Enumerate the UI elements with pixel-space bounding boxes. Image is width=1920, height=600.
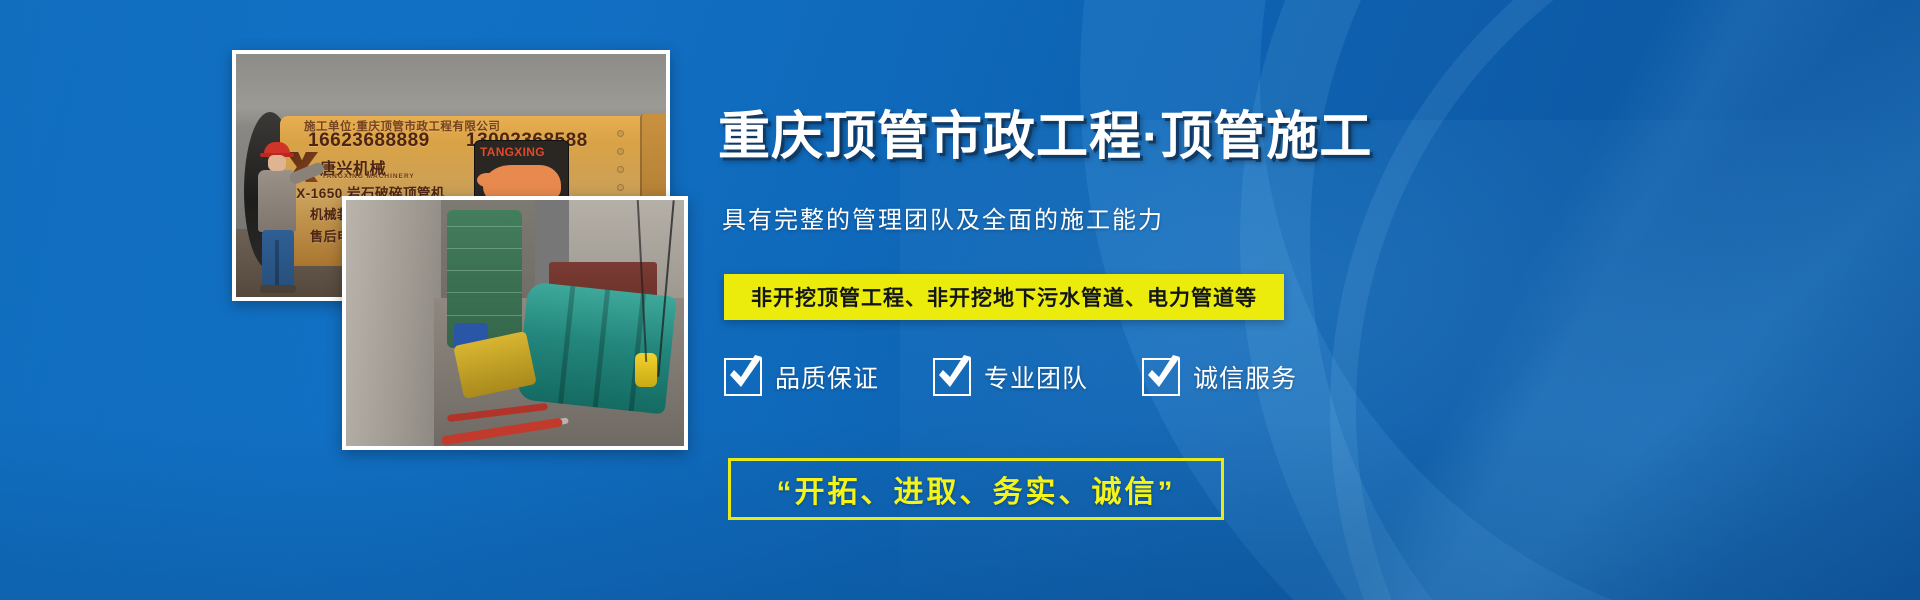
checkmark-icon (1142, 358, 1180, 396)
photo-b-left-wall (346, 200, 441, 446)
worker-legs (262, 230, 294, 286)
banner-text-column: 重庆顶管市政工程·顶管施工 具有完整的管理团队及全面的施工能力 非开挖顶管工程、… (718, 0, 1898, 600)
worker-boots (260, 285, 296, 293)
banner-subtitle: 具有完整的管理团队及全面的施工能力 (722, 200, 1164, 235)
feature-label-service: 诚信服务 (1193, 359, 1297, 395)
photo-jacking-pit (342, 196, 688, 450)
slogan-text: “开拓、进取、务实、诚信” (777, 467, 1176, 511)
feature-label-team: 专业团队 (984, 359, 1088, 395)
feature-label-quality: 品质保证 (775, 359, 879, 395)
photo-a-plate-brand: TANGXING (480, 145, 545, 159)
hard-hat-icon (264, 142, 290, 156)
worker-face (268, 155, 286, 171)
checkmark-icon (933, 358, 971, 396)
feature-list: 品质保证 专业团队 诚信服务 (724, 358, 1297, 396)
feature-item-service: 诚信服务 (1142, 358, 1297, 396)
photo-a-worker (254, 142, 308, 292)
promo-banner: 施工单位:重庆顶管市政工程有限公司 16623688889 1300236858… (0, 0, 1920, 600)
checkmark-icon (724, 358, 762, 396)
feature-item-team: 专业团队 (933, 358, 1088, 396)
feature-item-quality: 品质保证 (724, 358, 879, 396)
service-highlight-bar: 非开挖顶管工程、非开挖地下污水管道、电力管道等 (724, 274, 1284, 320)
banner-title: 重庆顶管市政工程·顶管施工 (718, 94, 1372, 169)
photo-b-green-pipe (516, 281, 676, 414)
service-highlight-text: 非开挖顶管工程、非开挖地下污水管道、电力管道等 (751, 282, 1257, 312)
photo-a-phone-1: 16623688889 (308, 130, 430, 152)
photo-a-brand-en: TANGXING MACHINERY (322, 173, 415, 180)
slogan-box: “开拓、进取、务实、诚信” (728, 458, 1224, 520)
